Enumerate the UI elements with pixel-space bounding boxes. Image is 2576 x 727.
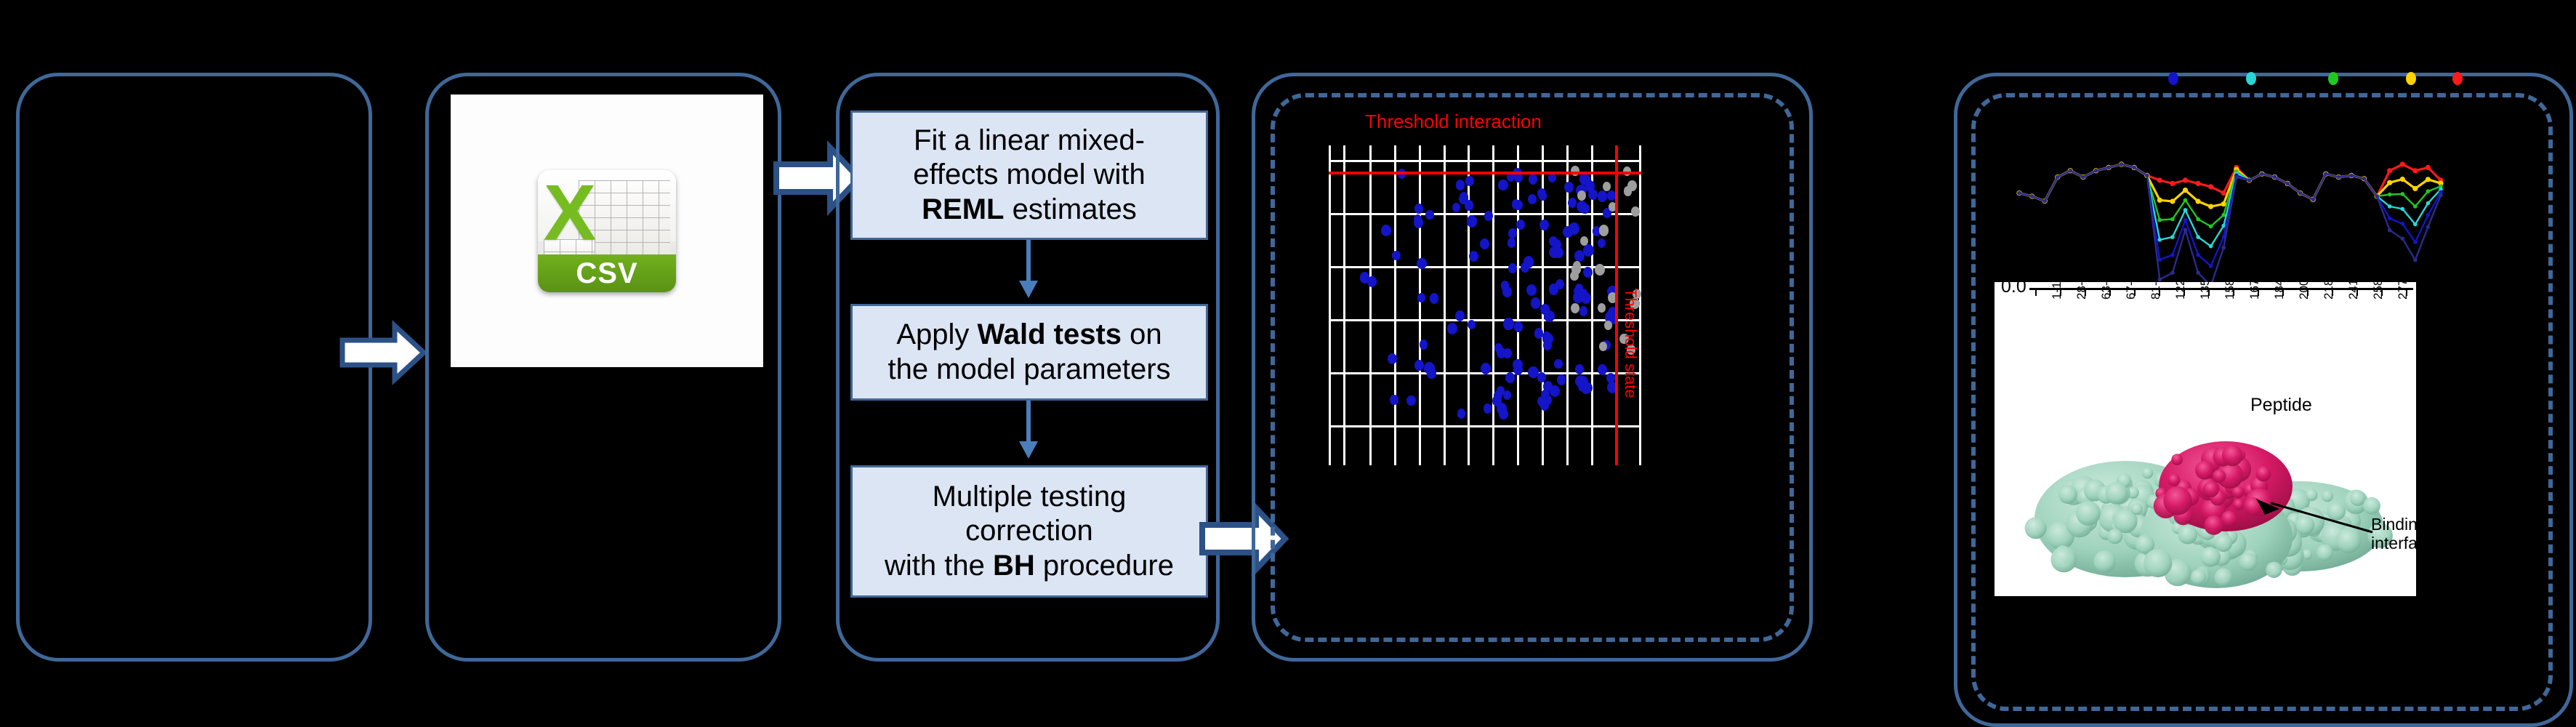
scatter-point [1528, 366, 1539, 379]
scatter-point [1627, 180, 1638, 192]
legend-dot-blue [2168, 72, 2178, 85]
scatter-point [1516, 220, 1525, 230]
x-axis-tick-label: 277-284 [2396, 282, 2410, 300]
arrow-down-wald-to-bh [1018, 401, 1039, 460]
scatter-point [1524, 256, 1534, 268]
scatter-point [1577, 201, 1587, 212]
gridline-v [1566, 145, 1569, 465]
arrow-down-reml-to-wald [1018, 240, 1039, 300]
scatter-point [1549, 236, 1558, 246]
scatter-point [1528, 194, 1537, 204]
legend-dot-cyan [2246, 72, 2256, 85]
scatter-plot-area: Threshold state [1329, 145, 1641, 465]
x-axis-tick-label: 241-257 [2346, 282, 2361, 300]
scatter-point [1481, 363, 1491, 374]
x-axis-tick-label: 81-101 [2149, 282, 2163, 300]
gridline-v [1394, 145, 1396, 465]
bh-bold: BH [993, 550, 1035, 582]
scatter-point [1508, 263, 1517, 273]
bh-pre3: with the [885, 550, 993, 582]
gridline-h [1329, 319, 1641, 321]
bh-box-text: Multiple testing correction with the BH … [885, 480, 1174, 583]
scatter-point [1503, 318, 1514, 330]
scatter-point [1381, 225, 1391, 236]
threshold-state-line [1615, 145, 1618, 465]
protein-structure-image [1995, 417, 2416, 596]
scatter-point [1508, 228, 1517, 238]
y-axis-tick-0: 0.0 [2001, 282, 2026, 297]
scatter-point [1577, 190, 1586, 201]
gridline-v [1492, 145, 1494, 465]
scatter-point [1414, 360, 1424, 371]
x-axis-tick-label: 200-214 [2297, 282, 2311, 300]
scatter-point [1554, 359, 1563, 369]
scatter-point [1539, 190, 1547, 201]
workflow-diagram: X CSV Fit a linear mixed- effects model … [0, 0, 2576, 687]
scatter-point [1414, 217, 1423, 228]
scatter-point [1531, 297, 1540, 308]
scatter-point [1420, 340, 1428, 349]
bh-box: Multiple testing correction with the BH … [850, 465, 1208, 598]
scatter-point [1526, 284, 1537, 296]
gridline-v [1369, 145, 1372, 465]
scatter-point [1417, 293, 1426, 303]
arrow-input-to-csv [338, 320, 429, 385]
scatter-point [1569, 222, 1579, 235]
scatter-point [1505, 372, 1515, 383]
scatter-point [1514, 200, 1523, 210]
scatter-point [1465, 200, 1474, 211]
wald-post: on [1122, 318, 1162, 350]
scatter-point [1604, 321, 1612, 330]
scatter-point [1564, 182, 1574, 193]
threshold-interaction-line [1329, 172, 1641, 174]
scatter-point [1468, 320, 1476, 329]
scatter-point [1484, 403, 1492, 414]
scatter-point [1508, 238, 1516, 248]
scatter-point [1583, 382, 1593, 393]
scatter-point [1557, 374, 1566, 385]
x-axis-tick-label: 167-180 [2247, 282, 2262, 300]
threshold-interaction-label: Threshold interaction [1365, 111, 1542, 133]
reml-box: Fit a linear mixed- effects model with R… [850, 111, 1208, 240]
gridline-v [1517, 145, 1519, 465]
scatter-point [1392, 251, 1400, 260]
scatter-point [1480, 238, 1489, 249]
peptide-line-chart [1997, 86, 2463, 297]
x-axis-title: Peptide [2250, 395, 2312, 416]
scatter-point [1457, 409, 1466, 419]
volcano-plot: Threshold interaction [1329, 145, 1641, 465]
gridline-v [1444, 145, 1446, 465]
x-axis-tick [2035, 288, 2037, 296]
bh-post3: procedure [1035, 550, 1174, 582]
scatter-point [1537, 372, 1546, 382]
gridline-h [1329, 160, 1641, 162]
scatter-point [1544, 310, 1554, 322]
scatter-point [1607, 190, 1616, 201]
scatter-point [1580, 236, 1588, 246]
threshold-state-label: Threshold state [1621, 288, 1640, 398]
binding-interface-annotation: Binding interface [2371, 515, 2416, 553]
scatter-point [1503, 348, 1512, 358]
scatter-point [1503, 390, 1512, 401]
scatter-point [1447, 323, 1458, 335]
scatter-point [1390, 395, 1398, 405]
scatter-point [1631, 206, 1640, 217]
legend-dot-red [2452, 72, 2463, 85]
reml-line1: Fit a linear mixed- [914, 124, 1145, 156]
scatter-point [1452, 203, 1460, 212]
binding-line1: Binding [2371, 515, 2416, 534]
reml-line3: estimates [1005, 193, 1137, 225]
scatter-point [1498, 180, 1508, 190]
wald-line2: the model parameters [887, 353, 1170, 385]
scatter-point [1598, 303, 1606, 313]
scatter-point [1543, 340, 1552, 350]
csv-file-icon: X CSV [538, 170, 676, 292]
scatter-point [1367, 276, 1377, 287]
scatter-point [1406, 395, 1415, 406]
scatter-point [1469, 251, 1478, 262]
csv-image-card: X CSV [451, 95, 763, 367]
x-axis-tick-label: 218-237 [2322, 282, 2336, 300]
gridline-v [1329, 145, 1331, 465]
wald-pre: Apply [896, 318, 977, 350]
x-axis-tick-label: 184-199 [2272, 282, 2287, 300]
scatter-point [1543, 381, 1553, 392]
scatter-point [1529, 174, 1538, 185]
wald-box: Apply Wald tests on the model parameters [850, 304, 1208, 401]
wald-bold: Wald tests [978, 318, 1122, 350]
legend-dot-yellow [2406, 72, 2416, 85]
x-axis-tick-label: 67-75 [2124, 282, 2138, 300]
excel-x-icon: X [544, 173, 596, 252]
scatter-point [1425, 210, 1433, 220]
reml-bold: REML [922, 193, 1004, 225]
scatter-point [1574, 250, 1585, 262]
scatter-point [1414, 204, 1422, 213]
scatter-point [1492, 395, 1502, 406]
reml-box-text: Fit a linear mixed- effects model with R… [913, 124, 1145, 227]
scatter-point [1542, 395, 1552, 406]
x-axis-tick-label: 135-144 [2198, 282, 2213, 300]
x-axis-tick-label: 122-129 [2173, 282, 2188, 300]
bh-line2: correction [965, 515, 1093, 547]
scatter-point [1456, 180, 1465, 190]
x-axis-tick-label: 1-15 [2050, 282, 2064, 300]
scatter-point [1588, 189, 1598, 200]
legend-dot-green [2328, 72, 2338, 85]
reml-line2: effects model with [913, 158, 1145, 190]
bh-line1: Multiple testing [933, 481, 1127, 513]
scatter-point [1583, 244, 1594, 257]
scatter-point [1555, 279, 1564, 289]
scatter-point [1581, 292, 1591, 304]
scatter-point [1568, 198, 1577, 208]
gridline-h [1329, 425, 1641, 427]
scatter-point [1575, 364, 1584, 374]
scatter-point [1554, 247, 1563, 258]
scatter-point [1455, 310, 1465, 321]
x-axis-tick-label: 63-73 [2099, 282, 2114, 300]
gridline-v [1343, 145, 1345, 465]
scatter-point [1571, 264, 1582, 276]
scatter-point [1598, 238, 1606, 248]
binding-line2: interface [2371, 534, 2416, 553]
gridline-v [1419, 145, 1421, 465]
scatter-point [1465, 176, 1474, 186]
scatter-point [1417, 258, 1427, 270]
peptide-protein-card: 0.0 1-1528-4463-7367-7581-101122-129135-… [1995, 282, 2416, 596]
scatter-point [1579, 306, 1588, 316]
scatter-point [1571, 303, 1579, 313]
scatter-point [1514, 321, 1524, 332]
csv-label: CSV [576, 259, 637, 288]
scatter-point [1499, 409, 1508, 419]
x-axis-tick-label: 258-266 [2371, 282, 2386, 300]
gridline-v [1468, 145, 1470, 465]
wald-box-text: Apply Wald tests on the model parameters [887, 318, 1170, 386]
scatter-point [1539, 220, 1549, 230]
scatter-point [1595, 264, 1605, 276]
csv-label-band: CSV [538, 254, 676, 292]
input-stage-panel [16, 73, 372, 662]
scatter-point [1467, 215, 1478, 228]
scatter-point [1599, 225, 1609, 236]
scatter-point [1598, 190, 1608, 202]
x-axis-tick-label: 28-44 [2074, 282, 2089, 300]
scatter-point [1430, 293, 1438, 303]
x-axis-tick-label: 158-166 [2223, 282, 2237, 300]
